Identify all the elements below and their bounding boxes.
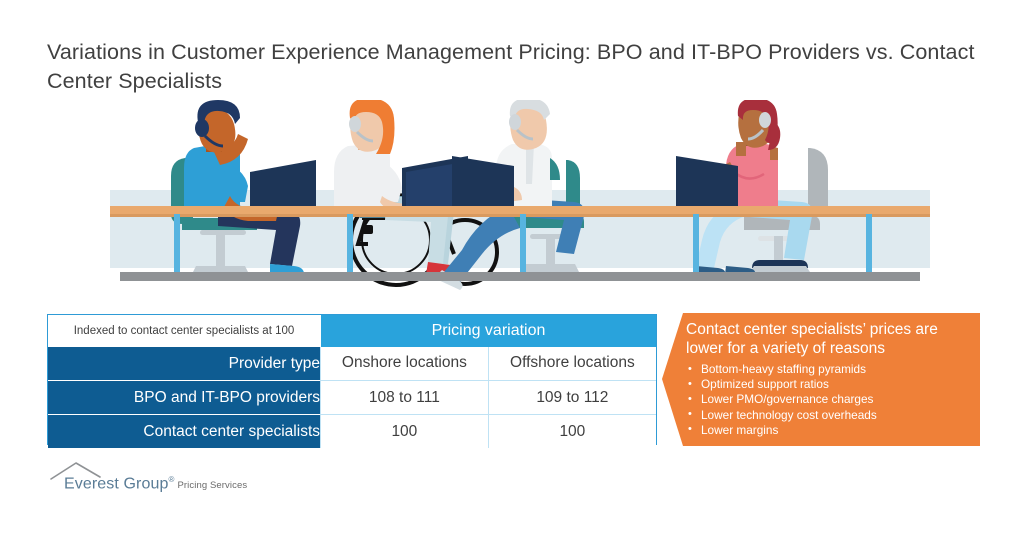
list-item: Lower margins: [686, 423, 970, 438]
table-row: BPO and IT-BPO providers 108 to 111 109 …: [48, 381, 656, 415]
logo-wordmark: Everest Group: [64, 475, 168, 492]
table-row-index-note: Indexed to contact center specialists at…: [48, 315, 656, 347]
everest-group-logo: Everest Group®Pricing Services: [50, 462, 280, 494]
pricing-table: Indexed to contact center specialists at…: [47, 314, 657, 445]
column-header-provider-type: Provider type: [48, 347, 321, 381]
list-item: Lower PMO/governance charges: [686, 392, 970, 407]
table-row: Contact center specialists 100 100: [48, 415, 656, 449]
list-item: Bottom-heavy staffing pyramids: [686, 362, 970, 377]
row-label-specialists: Contact center specialists: [48, 415, 321, 449]
contact-center-illustration: [110, 100, 930, 290]
column-header-onshore: Onshore locations: [321, 347, 489, 381]
cell-specialists-offshore: 100: [488, 415, 656, 449]
cell-bpo-offshore: 109 to 112: [488, 381, 656, 415]
callout-bullet-list: Bottom-heavy staffing pyramids Optimized…: [686, 362, 970, 438]
row-label-bpo: BPO and IT-BPO providers: [48, 381, 321, 415]
table-row-column-headers: Provider type Onshore locations Offshore…: [48, 347, 656, 381]
cell-bpo-onshore: 108 to 111: [321, 381, 489, 415]
logo-tagline: Pricing Services: [177, 480, 247, 491]
cell-specialists-onshore: 100: [321, 415, 489, 449]
callout-box: Contact center specialists’ prices are l…: [662, 313, 980, 446]
column-header-offshore: Offshore locations: [488, 347, 656, 381]
registered-mark: ®: [168, 475, 174, 484]
list-item: Optimized support ratios: [686, 377, 970, 392]
index-note-cell: Indexed to contact center specialists at…: [48, 315, 321, 347]
page-title: Variations in Customer Experience Manage…: [47, 38, 982, 96]
list-item: Lower technology cost overheads: [686, 408, 970, 423]
pricing-variation-header: Pricing variation: [321, 315, 657, 347]
callout-heading: Contact center specialists’ prices are l…: [686, 320, 970, 358]
